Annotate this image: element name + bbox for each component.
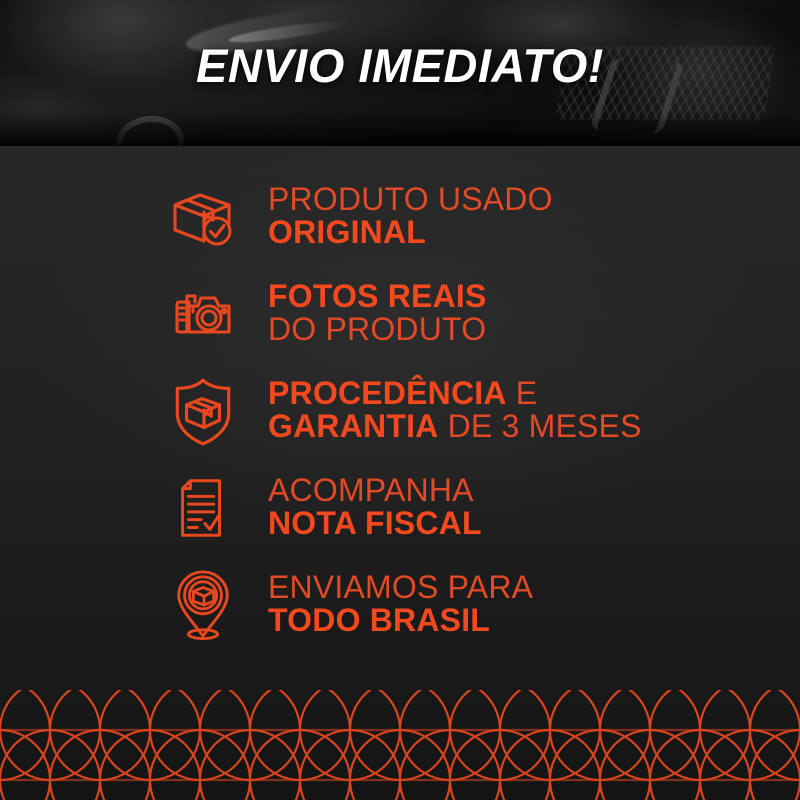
feature-line: ENVIAMOS PARA	[268, 571, 533, 605]
feature-row: ACOMPANHA NOTA FISCAL	[0, 459, 800, 556]
invoice-check-icon	[164, 469, 242, 547]
feature-segment: ACOMPANHA	[268, 472, 474, 508]
feature-segment: PRODUTO USADO	[268, 181, 553, 217]
feature-line: PROCEDÊNCIA E	[268, 377, 642, 411]
promo-banner: ENVIO IMEDIATO! PRODUTO US	[0, 0, 800, 800]
feature-line: FOTOS REAIS	[268, 280, 487, 314]
feature-line: ORIGINAL	[268, 217, 553, 251]
package-check-icon	[164, 178, 242, 256]
feature-text: PROCEDÊNCIA E GARANTIA DE 3 MESES	[268, 377, 642, 445]
shield-package-icon	[164, 372, 242, 450]
feature-text: ACOMPANHA NOTA FISCAL	[268, 474, 482, 542]
feature-segment: NOTA FISCAL	[268, 506, 482, 542]
headline-text: ENVIO IMEDIATO!	[0, 42, 800, 89]
feature-segment: DO PRODUTO	[268, 312, 486, 348]
pattern-svg	[0, 690, 800, 800]
feature-segment: ORIGINAL	[268, 215, 426, 251]
feature-list: PRODUTO USADO ORIGINAL	[0, 168, 800, 653]
decorative-pattern	[0, 690, 800, 800]
feature-segment: FOTOS REAIS	[268, 278, 487, 314]
feature-text: FOTOS REAIS DO PRODUTO	[268, 280, 487, 348]
feature-segment: TODO BRASIL	[268, 603, 490, 639]
feature-line: PRODUTO USADO	[268, 183, 553, 217]
banner-header: ENVIO IMEDIATO!	[0, 0, 800, 146]
feature-segment: PROCEDÊNCIA	[268, 375, 507, 411]
feature-text: ENVIAMOS PARA TODO BRASIL	[268, 571, 533, 639]
feature-segment: GARANTIA	[268, 409, 438, 445]
header-bottom-shadow	[0, 112, 800, 146]
map-pin-package-icon	[164, 566, 242, 644]
feature-segment: ENVIAMOS PARA	[268, 569, 533, 605]
feature-row: PROCEDÊNCIA E GARANTIA DE 3 MESES	[0, 362, 800, 459]
feature-text: PRODUTO USADO ORIGINAL	[268, 183, 553, 251]
feature-line: ACOMPANHA	[268, 474, 482, 508]
feature-line: TODO BRASIL	[268, 605, 533, 639]
feature-line: NOTA FISCAL	[268, 508, 482, 542]
camera-icon	[164, 275, 242, 353]
feature-row: FOTOS REAIS DO PRODUTO	[0, 265, 800, 362]
feature-row: PRODUTO USADO ORIGINAL	[0, 168, 800, 265]
feature-row: ENVIAMOS PARA TODO BRASIL	[0, 556, 800, 653]
feature-segment: DE 3 MESES	[438, 409, 641, 445]
feature-segment: E	[507, 375, 538, 411]
feature-line: GARANTIA DE 3 MESES	[268, 411, 642, 445]
feature-line: DO PRODUTO	[268, 314, 487, 348]
